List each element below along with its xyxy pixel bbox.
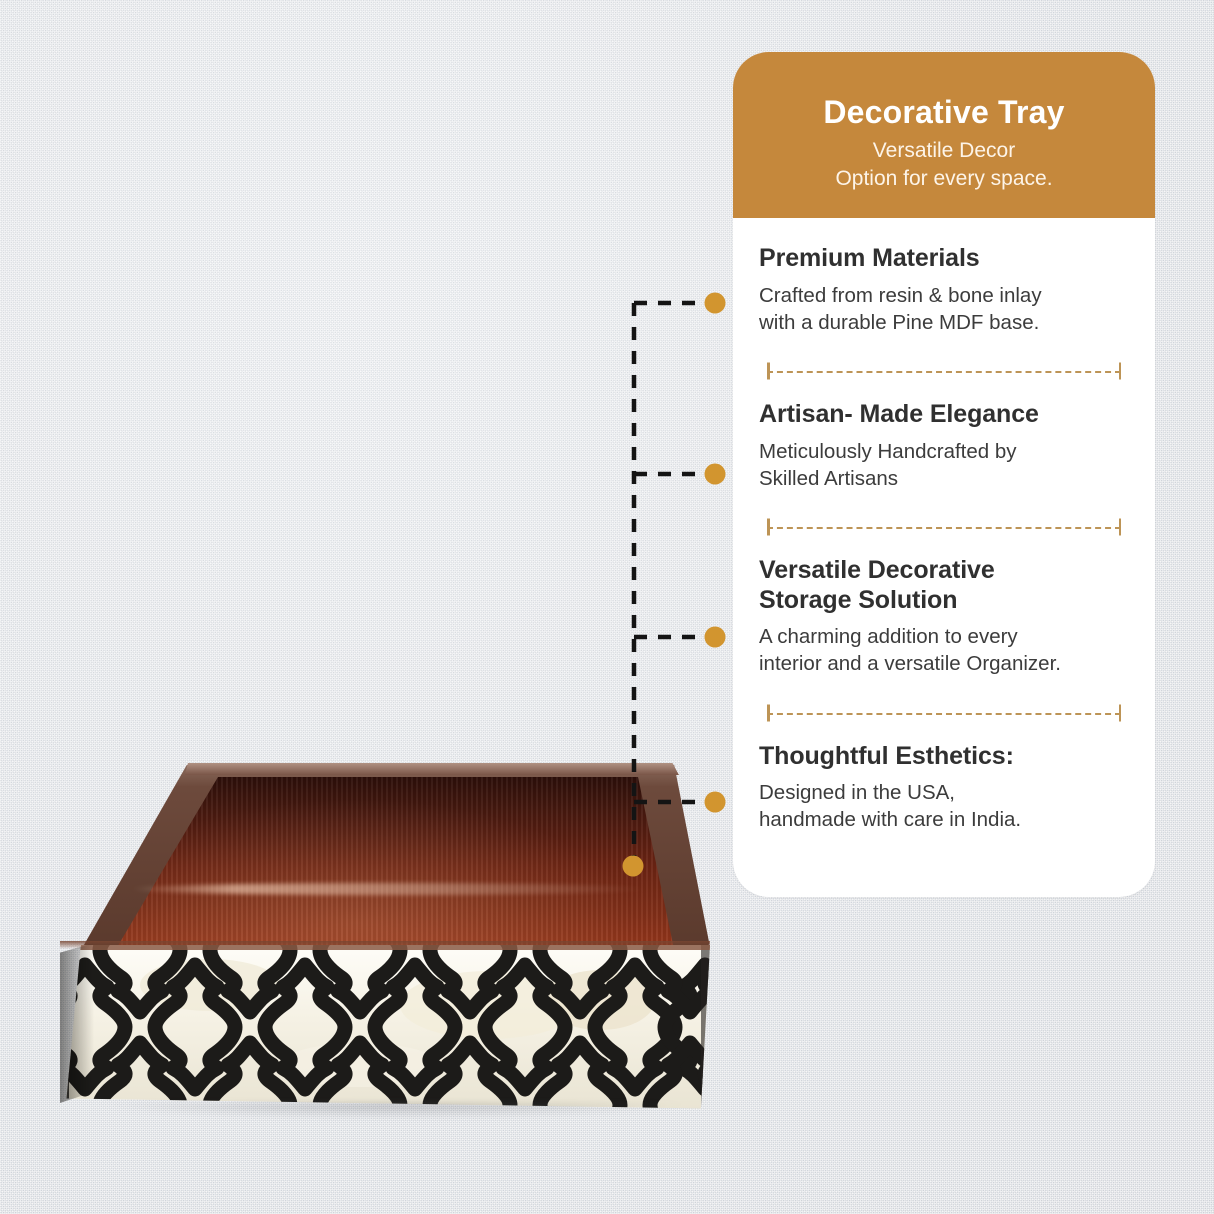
card-body: Premium Materials Crafted from resin & b… <box>733 218 1155 836</box>
card-header: Decorative Tray Versatile Decor Option f… <box>733 52 1155 218</box>
tray-illustration <box>40 755 720 1125</box>
bone-inlay-pattern <box>60 945 710 1110</box>
feature-divider-3 <box>767 694 1121 732</box>
feature-1-body-line-2: with a durable Pine MDF base. <box>759 311 1039 334</box>
feature-2-body: Meticulously Handcrafted by Skilled Arti… <box>759 438 1129 493</box>
infographic-canvas: Decorative Tray Versatile Decor Option f… <box>0 0 1214 1214</box>
divider-dashed-line <box>767 713 1121 715</box>
feature-premium-materials: Premium Materials Crafted from resin & b… <box>759 244 1129 338</box>
product-image-tray <box>40 755 720 1125</box>
feature-4-body: Designed in the USA, handmade with care … <box>759 779 1129 834</box>
feature-4-heading: Thoughtful Esthetics: <box>759 742 1129 772</box>
feature-2-body-line-1: Meticulously Handcrafted by <box>759 440 1017 463</box>
feature-3-heading: Versatile Decorative Storage Solution <box>759 556 1129 615</box>
divider-dashed-line <box>767 527 1121 529</box>
feature-divider-1 <box>767 352 1121 390</box>
feature-1-body-line-1: Crafted from resin & bone inlay <box>759 284 1042 307</box>
feature-3-heading-line-2: Storage Solution <box>759 586 957 614</box>
tray-left-side-shading <box>60 943 94 1103</box>
feature-3-heading-line-1: Versatile Decorative <box>759 556 995 584</box>
card-subtitle-line-1: Versatile Decor <box>757 137 1131 165</box>
feature-divider-2 <box>767 508 1121 546</box>
card-title: Decorative Tray <box>757 94 1131 131</box>
divider-cap-right <box>1119 704 1122 721</box>
feature-1-heading: Premium Materials <box>759 244 1129 274</box>
divider-cap-right <box>1119 363 1122 380</box>
feature-1-body: Crafted from resin & bone inlay with a d… <box>759 282 1129 337</box>
feature-3-body-line-2: interior and a versatile Organizer. <box>759 652 1061 675</box>
tray-gloss-highlight <box>130 883 650 895</box>
divider-dashed-line <box>767 371 1121 373</box>
tray-drop-shadow <box>90 1103 690 1119</box>
card-subtitle-line-2: Option for every space. <box>757 165 1131 193</box>
feature-artisan-made-elegance: Artisan- Made Elegance Meticulously Hand… <box>759 400 1129 494</box>
feature-versatile-storage-solution: Versatile Decorative Storage Solution A … <box>759 556 1129 680</box>
feature-2-heading: Artisan- Made Elegance <box>759 400 1129 430</box>
card-subtitle: Versatile Decor Option for every space. <box>757 137 1131 192</box>
tray-top-lip <box>62 763 708 775</box>
feature-3-body-line-1: A charming addition to every <box>759 625 1018 648</box>
tray-front-inlay-panel <box>60 945 710 1110</box>
product-info-card: Decorative Tray Versatile Decor Option f… <box>733 52 1155 897</box>
feature-thoughtful-esthetics: Thoughtful Esthetics: Designed in the US… <box>759 742 1129 836</box>
feature-4-body-line-1: Designed in the USA, <box>759 781 955 804</box>
feature-2-body-line-2: Skilled Artisans <box>759 467 898 490</box>
feature-4-body-line-2: handmade with care in India. <box>759 808 1021 831</box>
feature-3-body: A charming addition to every interior an… <box>759 623 1129 678</box>
divider-cap-right <box>1119 519 1122 536</box>
